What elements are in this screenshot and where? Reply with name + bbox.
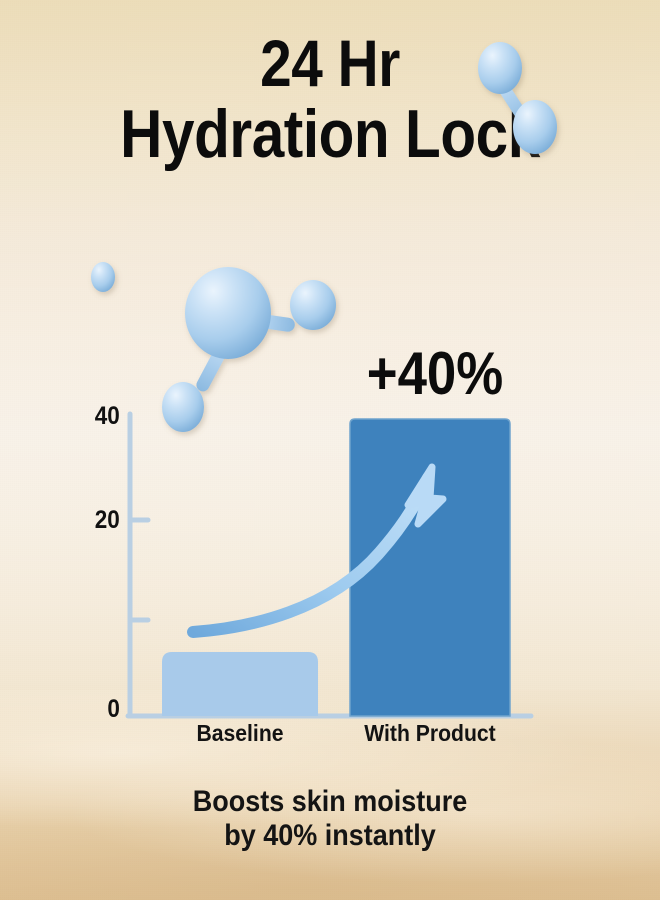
curved-growth-arrow-icon <box>193 467 443 632</box>
hydration-infographic-poster: 24 Hr Hydration Lock <box>0 0 660 900</box>
y-axis-label-0: 0 <box>107 697 120 722</box>
y-axis-label-20-wrap: 20 <box>84 508 120 534</box>
y-axis-label-40-wrap: 40 <box>84 404 120 430</box>
caption-block: Boosts skin moisture by 40% instantly <box>33 785 627 852</box>
delta-callout: +40% <box>343 344 528 404</box>
y-axis-label-40: 40 <box>95 404 120 429</box>
bar-baseline <box>162 652 318 716</box>
caption-line-1: Boosts skin moisture <box>33 785 627 819</box>
x-axis-label-with-product: With Product <box>347 722 513 745</box>
bar-with-product <box>350 419 510 716</box>
caption-line-2: by 40% instantly <box>33 819 627 853</box>
x-axis-label-baseline: Baseline <box>157 722 323 745</box>
y-axis-label-20: 20 <box>95 508 120 533</box>
page-title-line-2: Hydration Lock <box>46 100 614 168</box>
single-atom-icon <box>91 262 115 292</box>
page-title-line-1: 24 Hr <box>46 30 614 96</box>
y-axis-label-0-wrap: 0 <box>84 697 120 723</box>
water-molecule-icon <box>162 267 336 432</box>
